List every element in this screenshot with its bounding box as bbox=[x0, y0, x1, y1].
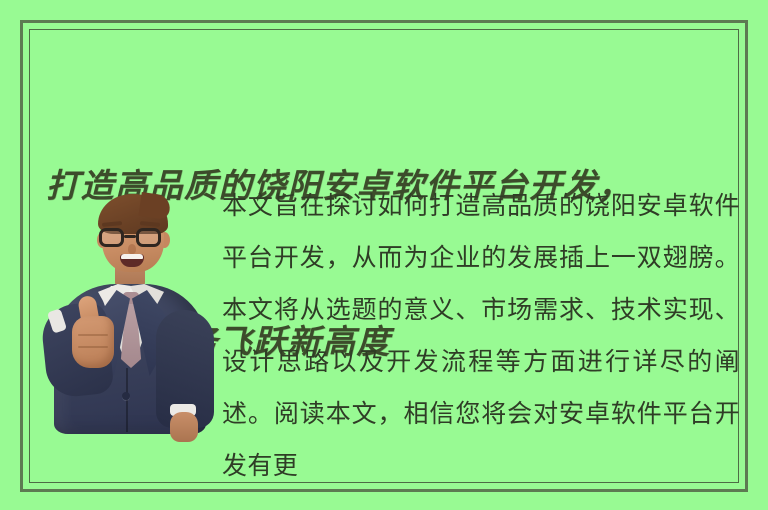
figure-hand-left-fist bbox=[72, 316, 114, 368]
poster-canvas: 打造高品质的饶阳安卓软件平台开发， 让您的业务飞跃新高度 bbox=[0, 0, 768, 510]
figure-teeth bbox=[121, 254, 143, 259]
figure-glasses-lens-left bbox=[99, 228, 124, 247]
figure-jacket-button bbox=[122, 392, 130, 400]
figure-glasses-lens-right bbox=[136, 228, 161, 247]
figure-hand-right bbox=[170, 412, 198, 442]
figure-hair-sweep bbox=[138, 192, 171, 220]
figure-glasses-bridge bbox=[124, 235, 136, 238]
businessman-illustration bbox=[44, 192, 216, 434]
figure-knuckle-line-b bbox=[78, 346, 108, 348]
figure-jacket-seam bbox=[126, 368, 128, 432]
poster-body-text: 本文旨在探讨如何打造高品质的饶阳安卓软件平台开发，从而为企业的发展插上一双翅膀。… bbox=[222, 180, 740, 492]
figure-nose bbox=[128, 244, 136, 254]
figure-knuckle-line-a bbox=[78, 334, 108, 336]
